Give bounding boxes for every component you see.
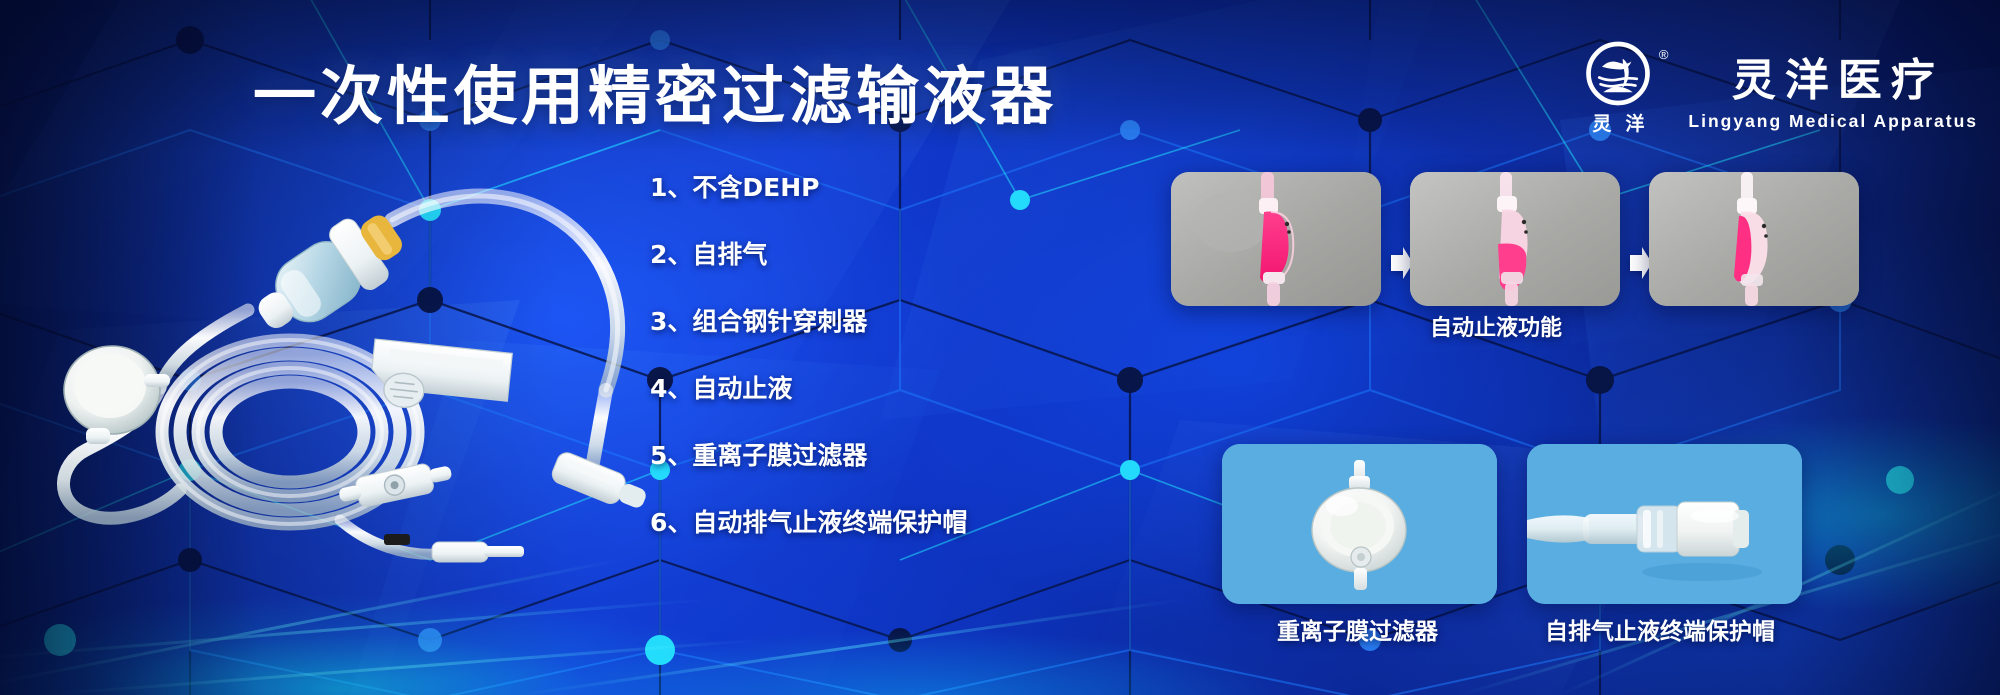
brand-name-block: 灵洋医疗 Lingyang Medical Apparatus <box>1688 44 1978 132</box>
product-photo-infusion-set <box>40 150 660 570</box>
auto-stop-step-1-photo <box>1171 172 1381 306</box>
heavy-ion-membrane-filter-photo <box>1222 444 1497 604</box>
registered-trademark-icon: ® <box>1659 48 1669 61</box>
filter-card-caption: 重离子膜过滤器 <box>1277 612 1438 646</box>
product-banner: 一次性使用精密过滤输液器 ® 灵洋 灵洋医疗 Lingyang Medical … <box>0 0 2000 695</box>
feature-item-3: 3、组合钢针穿刺器 <box>650 309 980 334</box>
auto-stop-step-2-panel <box>1410 172 1620 306</box>
brand-mark-icon: ® 灵洋 <box>1570 40 1666 136</box>
wave-circle-logo-icon <box>1579 40 1657 107</box>
brand-name-en: Lingyang Medical Apparatus <box>1688 111 1978 132</box>
cap-card-caption: 自排气止液终端保护帽 <box>1545 612 1775 646</box>
auto-stop-caption: 自动止液功能 <box>1430 310 1562 342</box>
auto-stop-step-2-photo <box>1410 172 1620 306</box>
brand-name-cn: 灵洋医疗 <box>1723 44 1944 108</box>
auto-stop-step-3-photo <box>1649 172 1859 306</box>
feature-item-4: 4、自动止液 <box>650 376 980 401</box>
cap-card-panel <box>1527 444 1802 604</box>
feature-item-2: 2、自排气 <box>650 242 980 267</box>
auto-stop-step-3-panel <box>1649 172 1859 306</box>
brand-logo: ® 灵洋 灵洋医疗 Lingyang Medical Apparatus <box>1570 40 1978 136</box>
feature-item-5: 5、重离子膜过滤器 <box>650 443 980 468</box>
page-title: 一次性使用精密过滤输液器 <box>253 46 1057 137</box>
feature-item-6: 6、自动排气止液终端保护帽 <box>650 510 980 535</box>
brand-mark-label: 灵洋 <box>1578 109 1658 136</box>
self-venting-cap-photo <box>1527 444 1802 604</box>
feature-list: 1、不含DEHP 2、自排气 3、组合钢针穿刺器 4、自动止液 5、重离子膜过滤… <box>650 175 980 535</box>
auto-stop-step-1-panel <box>1171 172 1381 306</box>
membrane-filter-part <box>64 346 170 444</box>
needle-part <box>340 520 524 562</box>
filter-card-panel <box>1222 444 1497 604</box>
feature-item-1: 1、不含DEHP <box>650 175 980 200</box>
